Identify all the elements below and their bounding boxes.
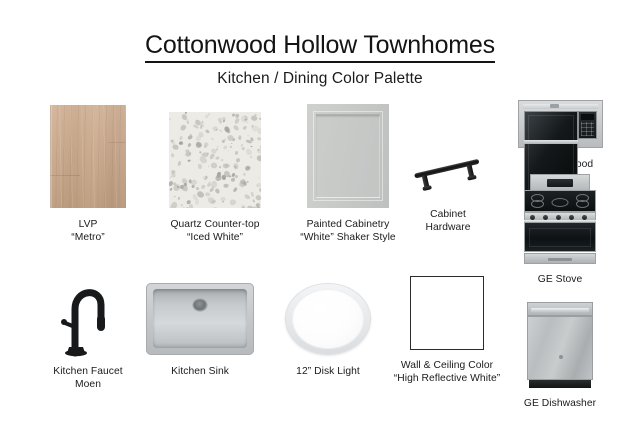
caption-dishwasher: GE Dishwasher [494, 397, 626, 410]
caption-line1: Wall & Ceiling Color [401, 360, 493, 371]
caption-sink: Kitchen Sink [143, 365, 257, 378]
item-kitchen-faucet[interactable]: Kitchen Faucet Moen [30, 265, 146, 392]
caption-line1: Cabinet [430, 209, 466, 220]
caption-line2: Moen [30, 378, 146, 391]
caption-disk-light: 12” Disk Light [273, 365, 383, 378]
disk-light-image [285, 283, 371, 355]
quartz-swatch [169, 112, 261, 208]
sink-image [146, 283, 254, 355]
caption-line2: “High Reflective White” [384, 372, 510, 385]
caption-line2: “Iced White” [155, 231, 275, 244]
caption-line2: “White” Shaker Style [283, 231, 413, 244]
header: Cottonwood Hollow Townhomes Kitchen / Di… [0, 30, 640, 88]
caption-cabinetry: Painted Cabinetry “White” Shaker Style [283, 218, 413, 245]
caption-line1: GE Dishwasher [524, 398, 596, 409]
caption-hardware: Cabinet Hardware [408, 208, 488, 235]
page-subtitle: Kitchen / Dining Color Palette [0, 70, 640, 88]
dishwasher-image [527, 302, 593, 388]
item-ge-stove[interactable]: GE Stove [494, 172, 626, 286]
caption-line1: Painted Cabinetry [307, 219, 390, 230]
caption-line2: Hardware [408, 221, 488, 234]
caption-line1: Kitchen Sink [171, 366, 229, 377]
faucet-icon [55, 265, 121, 357]
item-disk-light[interactable]: 12” Disk Light [273, 281, 383, 378]
microhood-image [518, 100, 603, 148]
item-ge-dishwasher[interactable]: GE Dishwasher [494, 300, 626, 410]
item-kitchen-sink[interactable]: Kitchen Sink [143, 281, 257, 378]
stove-image [522, 174, 598, 264]
caption-lvp: LVP “Metro” [36, 218, 140, 245]
cabinet-door-swatch [307, 104, 389, 208]
caption-line1: GE Stove [538, 274, 582, 285]
color-palette-sheet: Cottonwood Hollow Townhomes Kitchen / Di… [0, 0, 640, 445]
item-lvp-flooring[interactable]: LVP “Metro” [36, 104, 140, 245]
paint-chip-swatch [410, 276, 484, 350]
page-title: Cottonwood Hollow Townhomes [145, 30, 495, 63]
caption-line2: “Metro” [36, 231, 140, 244]
caption-line1: LVP [79, 219, 98, 230]
item-painted-cabinetry[interactable]: Painted Cabinetry “White” Shaker Style [283, 104, 413, 245]
item-quartz-countertop[interactable]: Quartz Counter-top “Iced White” [155, 108, 275, 245]
caption-quartz: Quartz Counter-top “Iced White” [155, 218, 275, 245]
caption-line1: Quartz Counter-top [170, 219, 259, 230]
caption-line1: Kitchen Faucet [53, 366, 122, 377]
caption-line1: 12” Disk Light [296, 366, 360, 377]
item-ge-microhood[interactable]: GE Microhood [494, 98, 626, 171]
item-cabinet-hardware[interactable]: Cabinet Hardware [408, 142, 488, 235]
caption-stove: GE Stove [494, 273, 626, 286]
lvp-swatch [50, 105, 126, 208]
caption-faucet: Kitchen Faucet Moen [30, 365, 146, 392]
caption-wall-color: Wall & Ceiling Color “High Reflective Wh… [384, 359, 510, 386]
bar-pull-icon [411, 148, 485, 200]
item-wall-ceiling-color[interactable]: Wall & Ceiling Color “High Reflective Wh… [384, 272, 510, 386]
